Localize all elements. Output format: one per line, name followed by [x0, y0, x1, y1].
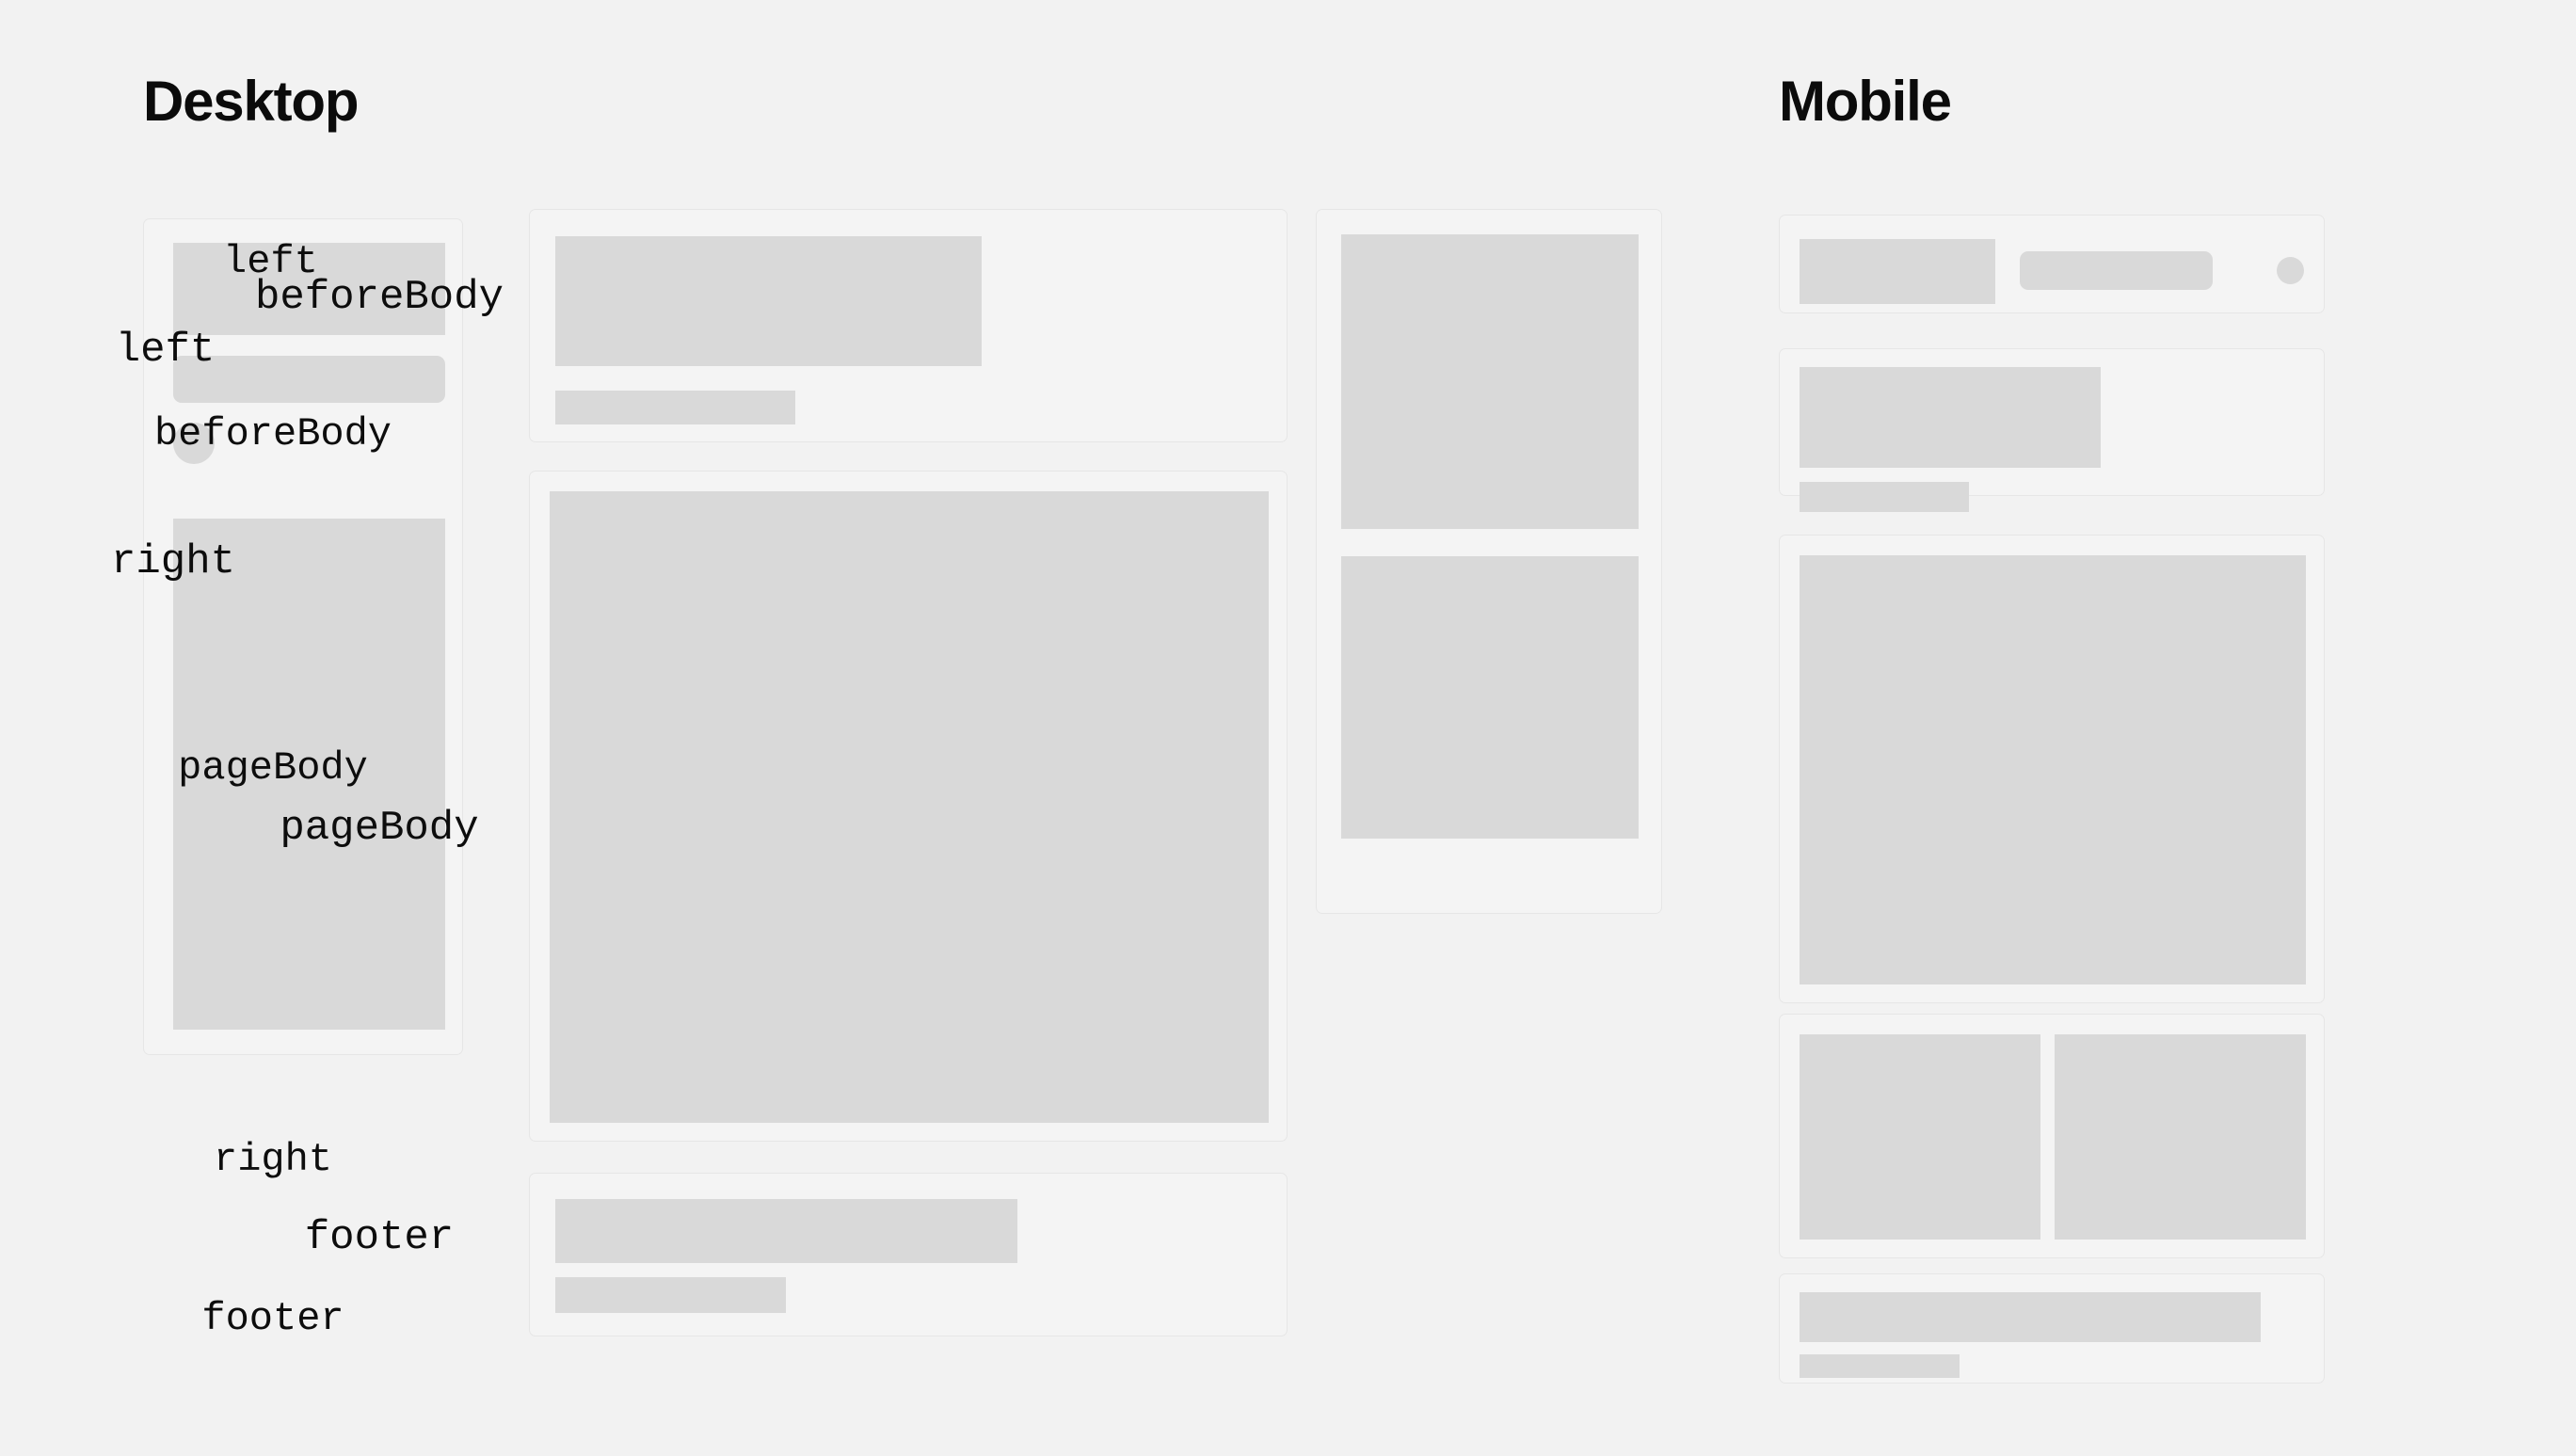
desktop-pagebody-region-card[interactable]: [529, 471, 1288, 1142]
avatar-circle-icon: [173, 423, 215, 464]
placeholder-block-right: [2055, 1034, 2306, 1240]
desktop-right-region-card[interactable]: [1316, 209, 1662, 914]
desktop-footer-region-card[interactable]: [529, 1173, 1288, 1336]
mobile-beforebody-region-card[interactable]: [1779, 348, 2325, 496]
mobile-left-region-card[interactable]: [1779, 215, 2325, 313]
placeholder-bar-rounded: [2020, 251, 2213, 290]
placeholder-block-left: [1800, 1034, 2040, 1240]
placeholder-bar-short: [1800, 482, 1969, 512]
placeholder-bar: [173, 356, 445, 403]
mobile-footer-region-card[interactable]: [1779, 1273, 2325, 1384]
placeholder-bar-wide: [555, 1199, 1017, 1263]
mobile-right-region-label: right: [0, 1137, 546, 1182]
mobile-pagebody-region-card[interactable]: [1779, 535, 2325, 1003]
placeholder-bar-short: [555, 391, 795, 424]
placeholder-block-bottom: [1341, 556, 1639, 839]
desktop-left-region-card[interactable]: [143, 218, 463, 1055]
placeholder-bar-short: [555, 1277, 786, 1313]
placeholder-block-top: [1341, 234, 1639, 529]
desktop-section-title: Desktop: [143, 73, 358, 130]
placeholder-block-fill: [550, 491, 1269, 1123]
mobile-footer-region-label: footer: [0, 1296, 546, 1341]
placeholder-block-fill: [1800, 555, 2306, 984]
desktop-beforebody-region-card[interactable]: [529, 209, 1288, 442]
placeholder-block-wide: [1800, 367, 2101, 468]
placeholder-block-wide: [555, 236, 982, 366]
placeholder-block-large: [173, 243, 445, 335]
placeholder-bar-short: [1800, 1354, 1960, 1378]
placeholder-block-tall: [173, 519, 445, 1030]
mobile-section-title: Mobile: [1779, 73, 1951, 130]
mobile-right-region-card[interactable]: [1779, 1014, 2325, 1258]
placeholder-bar-wide: [1800, 1292, 2261, 1342]
placeholder-block: [1800, 239, 1995, 304]
avatar-circle-icon: [2277, 257, 2304, 284]
